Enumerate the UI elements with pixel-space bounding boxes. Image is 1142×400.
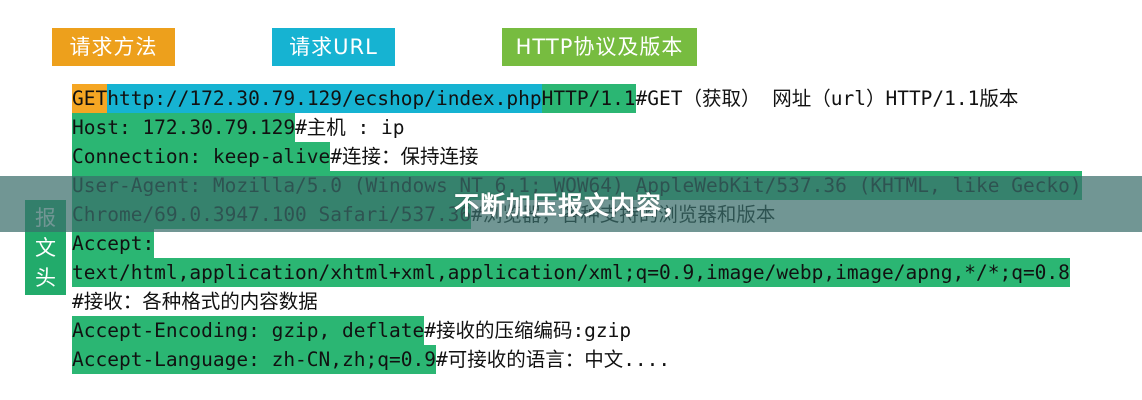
code-line-accept-header-value: text/html,application/xhtml+xml,applicat…: [72, 258, 1134, 287]
code-span: #GET（获取） 网址（url）HTTP/1.1版本: [636, 84, 1019, 113]
code-line-accept-header-label: Accept:: [72, 229, 1134, 258]
screenshot-root: 请求方法 请求URL HTTP协议及版本 GET http://172.30.7…: [0, 0, 1142, 400]
side-tag-char-2: 文: [35, 233, 56, 263]
code-span: Connection: keep-alive: [72, 142, 330, 171]
code-span: HTTP/1.1: [542, 84, 636, 113]
code-line-accept-language-header: Accept-Language: zh-CN,zh;q=0.9 #可接收的语言：…: [72, 345, 1134, 374]
code-span: Accept-Language: zh-CN,zh;q=0.9: [72, 345, 436, 374]
code-span: #接收：各种格式的内容数据: [72, 287, 318, 316]
code-line-accept-comment: #接收：各种格式的内容数据: [72, 287, 1134, 316]
overlay-caption: 不断加压报文内容，: [0, 176, 1142, 232]
code-span: text/html,application/xhtml+xml,applicat…: [72, 258, 1070, 287]
code-span: Accept:: [72, 229, 154, 258]
code-span: #连接：保持连接: [330, 142, 478, 171]
legend-badge-request-method: 请求方法: [52, 28, 175, 66]
code-span: Accept-Encoding: gzip, deflate: [72, 316, 424, 345]
code-span: Host: 172.30.79.129: [72, 113, 295, 142]
legend-badge-request-url: 请求URL: [272, 28, 395, 66]
legend-badge-http-protocol: HTTP协议及版本: [502, 28, 697, 66]
code-line-host-header: Host: 172.30.79.129 #主机 : ip: [72, 113, 1134, 142]
code-span: GET: [72, 84, 107, 113]
code-line-accept-encoding-header: Accept-Encoding: gzip, deflate #接收的压缩编码:…: [72, 316, 1134, 345]
code-line-connection-header: Connection: keep-alive #连接：保持连接: [72, 142, 1134, 171]
code-line-request-line: GET http://172.30.79.129/ecshop/index.ph…: [72, 84, 1134, 113]
code-span: http://172.30.79.129/ecshop/index.php: [107, 84, 541, 113]
code-span: #主机 : ip: [295, 113, 404, 142]
code-span: #接收的压缩编码:gzip: [424, 316, 631, 345]
code-span: #可接收的语言：中文....: [436, 345, 670, 374]
side-tag-char-3: 头: [35, 263, 56, 293]
